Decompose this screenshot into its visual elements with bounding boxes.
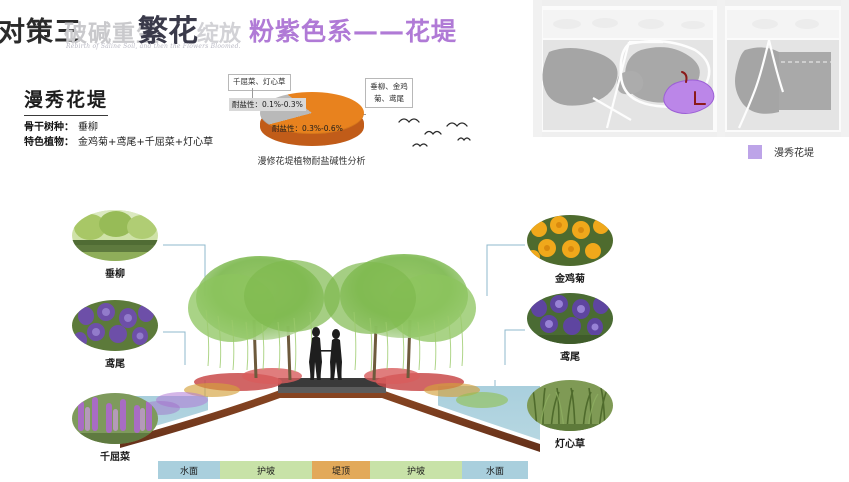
header-phrase-purple: 粉紫色系——花堤: [249, 12, 457, 48]
plant-card-loosestrife[interactable]: 千屈菜: [72, 393, 158, 463]
zone-label: 水面: [180, 464, 198, 477]
info-row-value: 金鸡菊+鸢尾+千屈菜+灯心草: [78, 137, 213, 148]
plant-card-iris-right[interactable]: 鸢尾: [527, 293, 613, 363]
plant-card-coreopsis[interactable]: 金鸡菊: [527, 215, 613, 285]
coreopsis-photo: [527, 215, 613, 266]
plant-label: 鸢尾: [72, 355, 158, 370]
zone-label: 堤顶: [332, 464, 350, 477]
site-plan-image: [533, 0, 849, 137]
site-plan-legend-label: 漫秀花堤: [774, 144, 814, 159]
deck-edge: [278, 387, 386, 393]
plant-card-iris-left[interactable]: 鸢尾: [72, 300, 158, 370]
plant-label: 垂柳: [72, 265, 158, 280]
section-render: [120, 200, 540, 468]
zone-slope-right: 护坡: [370, 461, 462, 479]
info-panel-title: 漫秀花堤: [24, 85, 108, 112]
chart-caption: 漫修花堤植物耐盐碱性分析: [224, 154, 399, 167]
site-plan-svg: [533, 0, 849, 137]
plant-label: 灯心草: [527, 435, 613, 450]
zone-label: 护坡: [257, 464, 275, 477]
willow-canopy-right: [324, 254, 476, 342]
zone-dike-top: 堤顶: [312, 461, 370, 479]
plant-label: 鸢尾: [527, 348, 613, 363]
couple-silhouette: [309, 327, 342, 380]
zone-slope-left: 护坡: [220, 461, 312, 479]
zone-bar: 水面 护坡 堤顶 护坡 水面: [158, 461, 528, 479]
plant-label: 金鸡菊: [527, 270, 613, 285]
info-row-value: 垂柳: [78, 122, 98, 133]
pie-label-low-salinity: 耐盐性：0.1%-0.3%: [229, 98, 306, 111]
zone-label: 护坡: [407, 464, 425, 477]
site-plan-legend: 漫秀花堤: [748, 144, 814, 159]
zone-water-right: 水面: [462, 461, 528, 479]
info-row-backbone-tree: 骨干树种：垂柳: [24, 118, 98, 133]
willow-photo: [72, 210, 158, 261]
juncus-photo: [527, 380, 613, 431]
zone-label: 水面: [486, 464, 504, 477]
plant-label: 千屈菜: [72, 448, 158, 463]
site-plan-legend-swatch: [748, 145, 762, 159]
birds-decoration: [395, 108, 485, 156]
iris-photo: [527, 293, 613, 344]
zone-water-left: 水面: [158, 461, 220, 479]
pie-label-high-salinity: 耐盐性：0.3%-0.6%: [272, 123, 343, 134]
plant-card-willow[interactable]: 垂柳: [72, 210, 158, 280]
salinity-pie-chart: 千屈菜、灯心草 垂柳、金鸡菊、鸢尾 耐盐性：0.1%-0.3% 耐盐性：0.3%…: [224, 70, 399, 170]
chart-callout-low-salinity: 千屈菜、灯心草: [228, 74, 291, 91]
loosestrife-photo: [72, 393, 158, 444]
iris-photo: [72, 300, 158, 351]
info-row-key: 骨干树种：: [24, 122, 74, 133]
slide-root: 对策三 破碱重生 繁花 绽放 粉紫色系——花堤 Rebirth of Salin…: [0, 0, 849, 482]
header-english-subtitle: Rebirth of Saline Soil, and then the Flo…: [66, 43, 241, 50]
info-row-feature-plants: 特色植物：金鸡菊+鸢尾+千屈菜+灯心草: [24, 133, 213, 148]
plant-card-juncus[interactable]: 灯心草: [527, 380, 613, 450]
chart-callout-high-salinity: 垂柳、金鸡菊、鸢尾: [365, 78, 413, 108]
info-row-key: 特色植物：: [24, 137, 74, 148]
